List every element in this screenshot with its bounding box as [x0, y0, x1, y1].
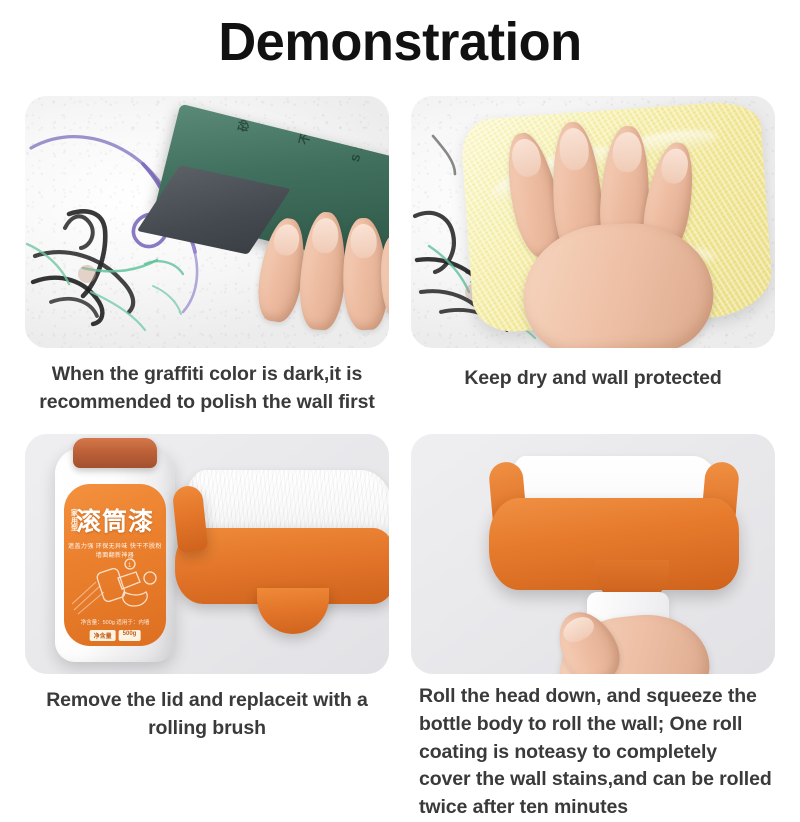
caption-polish-wall: When the graffiti color is dark,it is re…	[29, 361, 385, 416]
panel-replace-lid: 家用型 滚筒漆 遮盖力强 环保无异味 快干不脱粉 墙面翻新神器 1	[20, 434, 394, 821]
demonstration-grid: QBTAO 不织布 砂纸 S 12 When the graffiti colo…	[0, 96, 800, 822]
caption-roll-wall: Roll the head down, and squeeze the bott…	[413, 683, 773, 821]
roller-brush-head	[175, 470, 389, 640]
label-weight-tag: 净含量 500g	[90, 630, 141, 641]
roller-neck-mount	[257, 588, 329, 634]
panel-wipe-dry: Keep dry and wall protected	[406, 96, 780, 416]
panel-row-1: QBTAO 不织布 砂纸 S 12 When the graffiti colo…	[0, 96, 800, 416]
svg-text:1: 1	[128, 563, 132, 569]
bottle-label: 家用型 滚筒漆 遮盖力强 环保无异味 快干不脱粉 墙面翻新神器 1	[64, 484, 166, 646]
photo-wipe-dry	[411, 96, 775, 348]
caption-replace-lid: Remove the lid and replaceit with a roll…	[29, 687, 385, 742]
label-weight-value: 500g	[119, 630, 141, 641]
page-title: Demonstration	[12, 14, 788, 71]
panel-roll-wall: Roll the head down, and squeeze the bott…	[406, 434, 780, 821]
bottle-cap	[73, 438, 157, 468]
caption-wipe-dry: Keep dry and wall protected	[415, 365, 771, 393]
label-usage-illustration: 1	[70, 552, 162, 618]
photo-replace-lid: 家用型 滚筒漆 遮盖力强 环保无异味 快干不脱粉 墙面翻新神器 1	[25, 434, 389, 674]
panel-row-2: 家用型 滚筒漆 遮盖力强 环保无异味 快干不脱粉 墙面翻新神器 1	[0, 434, 800, 821]
paint-bottle: 家用型 滚筒漆 遮盖力强 环保无异味 快干不脱粉 墙面翻新神器 1	[55, 448, 175, 662]
roller-assembly	[489, 456, 739, 606]
label-footer-note: 净含量：500g 适用于：内墙	[64, 618, 166, 626]
label-headline: 滚筒漆	[64, 510, 166, 535]
panel-polish-wall: QBTAO 不织布 砂纸 S 12 When the graffiti colo…	[20, 96, 394, 416]
label-weight-caption: 净含量	[90, 630, 116, 641]
photo-polish-wall: QBTAO 不织布 砂纸 S 12	[25, 96, 389, 348]
photo-roll-wall	[411, 434, 775, 674]
